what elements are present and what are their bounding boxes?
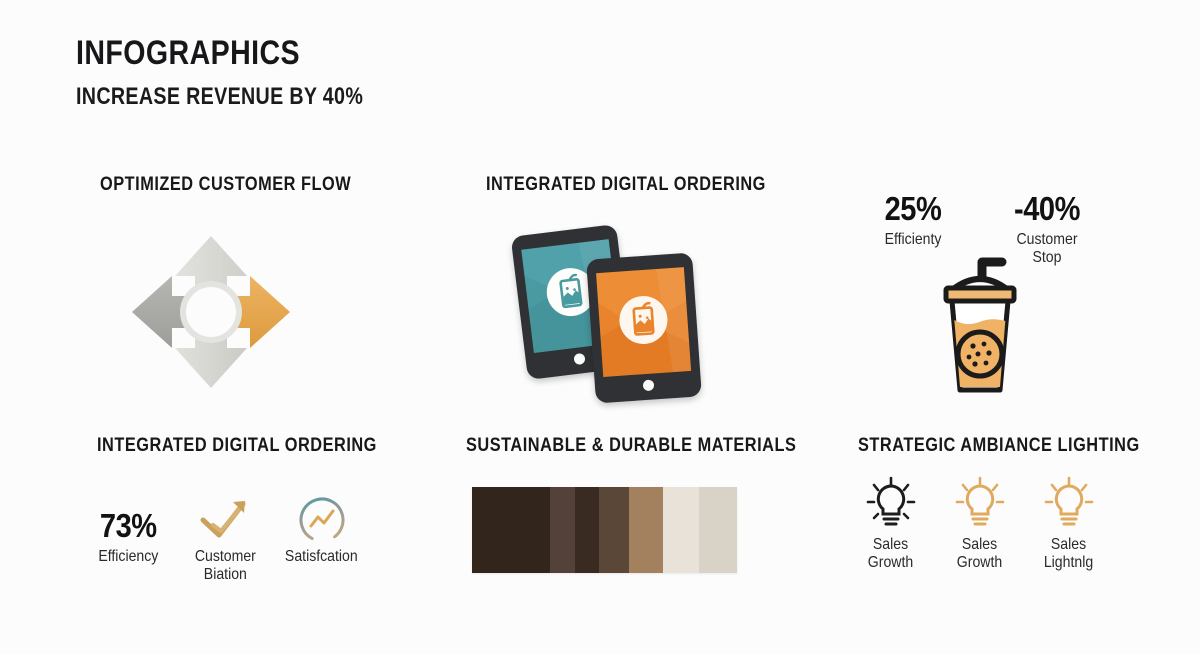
- bulb-stat-1-label-2: Growth: [851, 554, 929, 572]
- swatch: [575, 487, 599, 573]
- bottom-left-stats-group: 73% Efficiency Customer Biation: [80, 492, 370, 585]
- tablet-orange-home-button: [642, 379, 654, 391]
- infographic-canvas: INFOGRAPHICS INCREASE REVENUE BY 40% OPT…: [0, 0, 1200, 654]
- tablets-icon: [505, 222, 705, 394]
- stat-customer-retention-label-1: Customer: [182, 548, 267, 566]
- growth-circle-icon: [273, 492, 370, 548]
- bulb-stat-3-label-1: Sales: [1029, 536, 1107, 554]
- swatch: [699, 487, 737, 573]
- stat-customer-retention-label-2: Biation: [182, 566, 267, 584]
- heading-optimized-customer-flow: OPTIMIZED CUSTOMER FLOW: [100, 174, 351, 196]
- page-subtitle: INCREASE REVENUE BY 40%: [76, 83, 363, 111]
- bubble-tea-cup-icon: [930, 250, 1030, 395]
- tablet-orange-screen: [596, 267, 691, 377]
- swatch: [472, 487, 550, 573]
- bulb-stat-2-label-2: Growth: [940, 554, 1018, 572]
- tablet-orange: [586, 252, 702, 403]
- page-header: INFOGRAPHICS INCREASE REVENUE BY 40%: [76, 36, 426, 111]
- swatch: [599, 487, 629, 573]
- heading-integrated-digital-ordering-bottom: INTEGRATED DIGITAL ORDERING: [97, 435, 377, 457]
- stat-satisfaction: Satisfcation: [273, 492, 370, 566]
- heading-strategic-ambiance-lighting: STRATEGIC AMBIANCE LIGHTING: [858, 435, 1140, 457]
- swatch: [550, 487, 575, 573]
- stat-satisfaction-label: Satisfcation: [279, 548, 364, 566]
- bulb-stat-2-label-1: Sales: [940, 536, 1018, 554]
- stat-efficiency-label: Efficienty: [854, 231, 972, 249]
- bulb-stat-3: Sales Lightnlg: [1024, 474, 1113, 573]
- bulb-stat-3-label-2: Lightnlg: [1029, 554, 1107, 572]
- lighting-stats-group: Sales Growth Sales: [846, 474, 1114, 573]
- stat-customer-stop-label-1: Customer: [988, 231, 1106, 249]
- lightbulb-icon: [846, 474, 935, 532]
- stat-73-label: Efficiency: [86, 548, 171, 566]
- four-way-arrow-icon: [128, 232, 294, 392]
- stat-customer-retention: Customer Biation: [177, 492, 274, 585]
- stat-73-efficiency: 73% Efficiency: [80, 492, 177, 566]
- lightbulb-icon: [1024, 474, 1113, 532]
- swatch: [629, 487, 663, 573]
- check-arrow-icon: [177, 492, 274, 548]
- material-color-palette: [472, 487, 737, 573]
- page-title: INFOGRAPHICS: [76, 36, 370, 72]
- heading-sustainable-durable-materials: SUSTAINABLE & DURABLE MATERIALS: [466, 435, 796, 457]
- stat-73-value: 73%: [80, 492, 177, 548]
- lightbulb-icon: [935, 474, 1024, 532]
- bulb-stat-2: Sales Growth: [935, 474, 1024, 573]
- heading-integrated-digital-ordering-top: INTEGRATED DIGITAL ORDERING: [486, 174, 766, 196]
- bulb-stat-1: Sales Growth: [846, 474, 935, 573]
- stat-customer-stop-value: -40%: [988, 192, 1106, 225]
- stat-efficiency-value: 25%: [854, 192, 972, 225]
- tablet-teal-home-button: [573, 353, 585, 365]
- bulb-stat-1-label-1: Sales: [851, 536, 929, 554]
- swatch: [663, 487, 699, 573]
